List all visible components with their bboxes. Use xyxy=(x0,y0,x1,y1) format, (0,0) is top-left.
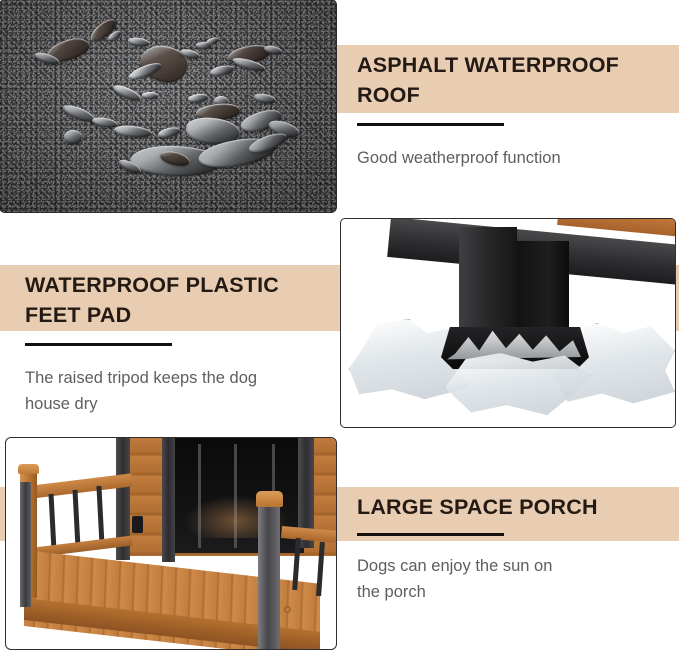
water-splash-front xyxy=(445,353,591,415)
title-divider-porch xyxy=(357,533,504,536)
railing-baluster xyxy=(72,490,80,548)
porch-image xyxy=(5,437,337,650)
feature-description-feet-pad: The raised tripod keeps the dog house dr… xyxy=(25,365,325,417)
support-leg-front xyxy=(459,227,517,337)
door-latch xyxy=(132,516,143,533)
feature-text-roof: ASPHALT WATERPROOF ROOF Good weatherproo… xyxy=(357,50,657,171)
asphalt-roof-image xyxy=(0,0,336,212)
title-divider-roof xyxy=(357,123,504,126)
feature-title-roof: ASPHALT WATERPROOF ROOF xyxy=(357,50,657,110)
asphalt-vignette xyxy=(0,0,336,212)
porch-corner-column-mid xyxy=(162,437,175,562)
support-leg-side xyxy=(517,241,569,339)
porch-post-cap-right xyxy=(256,491,283,507)
feature-description-porch: Dogs can enjoy the sun on the porch xyxy=(357,553,657,605)
feature-title-feet-pad: WATERPROOF PLASTIC FEET PAD xyxy=(25,270,325,330)
porch-post-cap-left xyxy=(18,464,39,474)
feature-description-roof: Good weatherproof function xyxy=(357,145,657,171)
deck-screw xyxy=(284,606,291,613)
feet-pad-image xyxy=(340,218,676,428)
feature-text-porch: LARGE SPACE PORCH Dogs can enjoy the sun… xyxy=(357,492,657,605)
railing-baluster xyxy=(96,486,104,546)
railing-baluster xyxy=(49,494,57,550)
feature-text-feet-pad: WATERPROOF PLASTIC FEET PAD The raised t… xyxy=(25,270,325,417)
title-divider-feet-pad xyxy=(25,343,172,346)
porch-post-right xyxy=(258,496,280,650)
plastic-foot-left xyxy=(20,482,31,607)
feature-title-porch: LARGE SPACE PORCH xyxy=(357,492,657,522)
infographic-stage: ASPHALT WATERPROOF ROOF Good weatherproo… xyxy=(0,0,679,652)
